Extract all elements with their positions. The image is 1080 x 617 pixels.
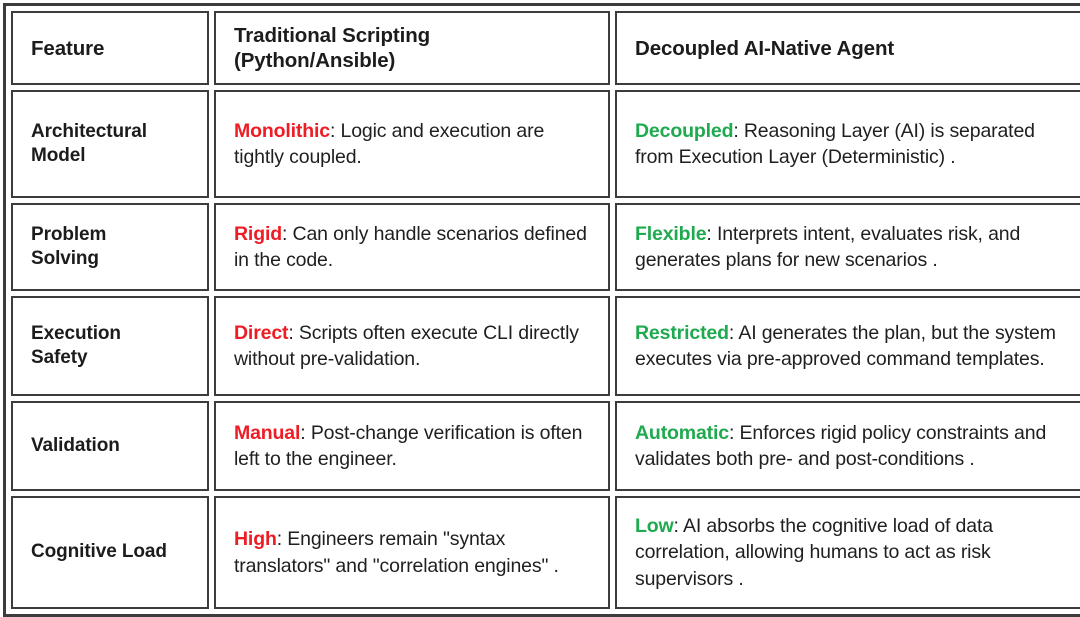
feature-label: Execution Safety <box>31 322 193 371</box>
keyword-positive: Restricted <box>635 322 729 344</box>
traditional-cell-text: Manual: Post-change verification is ofte… <box>234 420 594 472</box>
table-row: Execution Safety Direct: Scripts often e… <box>11 296 1080 396</box>
cell-body-text: : Engineers remain "syntax translators" … <box>234 528 559 576</box>
column-header-agent: Decoupled AI-Native Agent <box>615 11 1080 85</box>
traditional-cell: Monolithic: Logic and execution are tigh… <box>214 90 610 198</box>
traditional-cell-text: Direct: Scripts often execute CLI direct… <box>234 320 594 372</box>
cell-body-text: : Can only handle scenarios defined in t… <box>234 223 587 271</box>
keyword-negative: Direct <box>234 322 288 344</box>
keyword-positive: Low <box>635 515 674 537</box>
feature-label: Architectural Model <box>31 120 193 169</box>
traditional-cell: Rigid: Can only handle scenarios defined… <box>214 203 610 291</box>
keyword-negative: High <box>234 528 277 550</box>
traditional-cell-text: Rigid: Can only handle scenarios defined… <box>234 221 594 273</box>
agent-cell: Decoupled: Reasoning Layer (AI) is separ… <box>615 90 1080 198</box>
traditional-cell: Direct: Scripts often execute CLI direct… <box>214 296 610 396</box>
document-sheet: Feature Traditional Scripting (Python/An… <box>0 0 1080 583</box>
feature-cell: Architectural Model <box>11 90 209 198</box>
agent-cell-text: Restricted: AI generates the plan, but t… <box>635 320 1069 372</box>
agent-cell-text: Flexible: Interprets intent, evaluates r… <box>635 221 1069 273</box>
comparison-table: Feature Traditional Scripting (Python/An… <box>3 3 1080 617</box>
column-header-traditional-label: Traditional Scripting (Python/Ansible) <box>234 23 594 73</box>
feature-cell: Problem Solving <box>11 203 209 291</box>
agent-cell-text: Automatic: Enforces rigid policy constra… <box>635 420 1069 472</box>
agent-cell-text: Low: AI absorbs the cognitive load of da… <box>635 513 1069 591</box>
agent-cell-text: Decoupled: Reasoning Layer (AI) is separ… <box>635 118 1069 170</box>
keyword-negative: Manual <box>234 422 300 444</box>
agent-cell: Flexible: Interprets intent, evaluates r… <box>615 203 1080 291</box>
column-header-feature: Feature <box>11 11 209 85</box>
keyword-negative: Rigid <box>234 223 282 245</box>
traditional-cell-text: High: Engineers remain "syntax translato… <box>234 526 594 578</box>
keyword-negative: Monolithic <box>234 120 330 142</box>
feature-label: Validation <box>31 434 193 458</box>
column-header-feature-label: Feature <box>31 36 193 61</box>
agent-cell: Restricted: AI generates the plan, but t… <box>615 296 1080 396</box>
cell-body-text: : AI absorbs the cognitive load of data … <box>635 515 993 589</box>
agent-cell: Automatic: Enforces rigid policy constra… <box>615 401 1080 491</box>
feature-cell: Execution Safety <box>11 296 209 396</box>
table-header-row: Feature Traditional Scripting (Python/An… <box>11 11 1080 85</box>
table-row: Problem Solving Rigid: Can only handle s… <box>11 203 1080 291</box>
table-row: Cognitive Load High: Engineers remain "s… <box>11 496 1080 609</box>
column-header-agent-label: Decoupled AI-Native Agent <box>635 36 1069 61</box>
feature-label: Problem Solving <box>31 223 193 272</box>
feature-cell: Validation <box>11 401 209 491</box>
traditional-cell-text: Monolithic: Logic and execution are tigh… <box>234 118 594 170</box>
keyword-positive: Decoupled <box>635 120 733 142</box>
table-row: Architectural Model Monolithic: Logic an… <box>11 90 1080 198</box>
column-header-traditional: Traditional Scripting (Python/Ansible) <box>214 11 610 85</box>
traditional-cell: High: Engineers remain "syntax translato… <box>214 496 610 609</box>
keyword-positive: Automatic <box>635 422 729 444</box>
table-body: Architectural Model Monolithic: Logic an… <box>11 90 1080 609</box>
agent-cell: Low: AI absorbs the cognitive load of da… <box>615 496 1080 609</box>
table-row: Validation Manual: Post-change verificat… <box>11 401 1080 491</box>
feature-label: Cognitive Load <box>31 540 193 564</box>
traditional-cell: Manual: Post-change verification is ofte… <box>214 401 610 491</box>
keyword-positive: Flexible <box>635 223 706 245</box>
feature-cell: Cognitive Load <box>11 496 209 609</box>
